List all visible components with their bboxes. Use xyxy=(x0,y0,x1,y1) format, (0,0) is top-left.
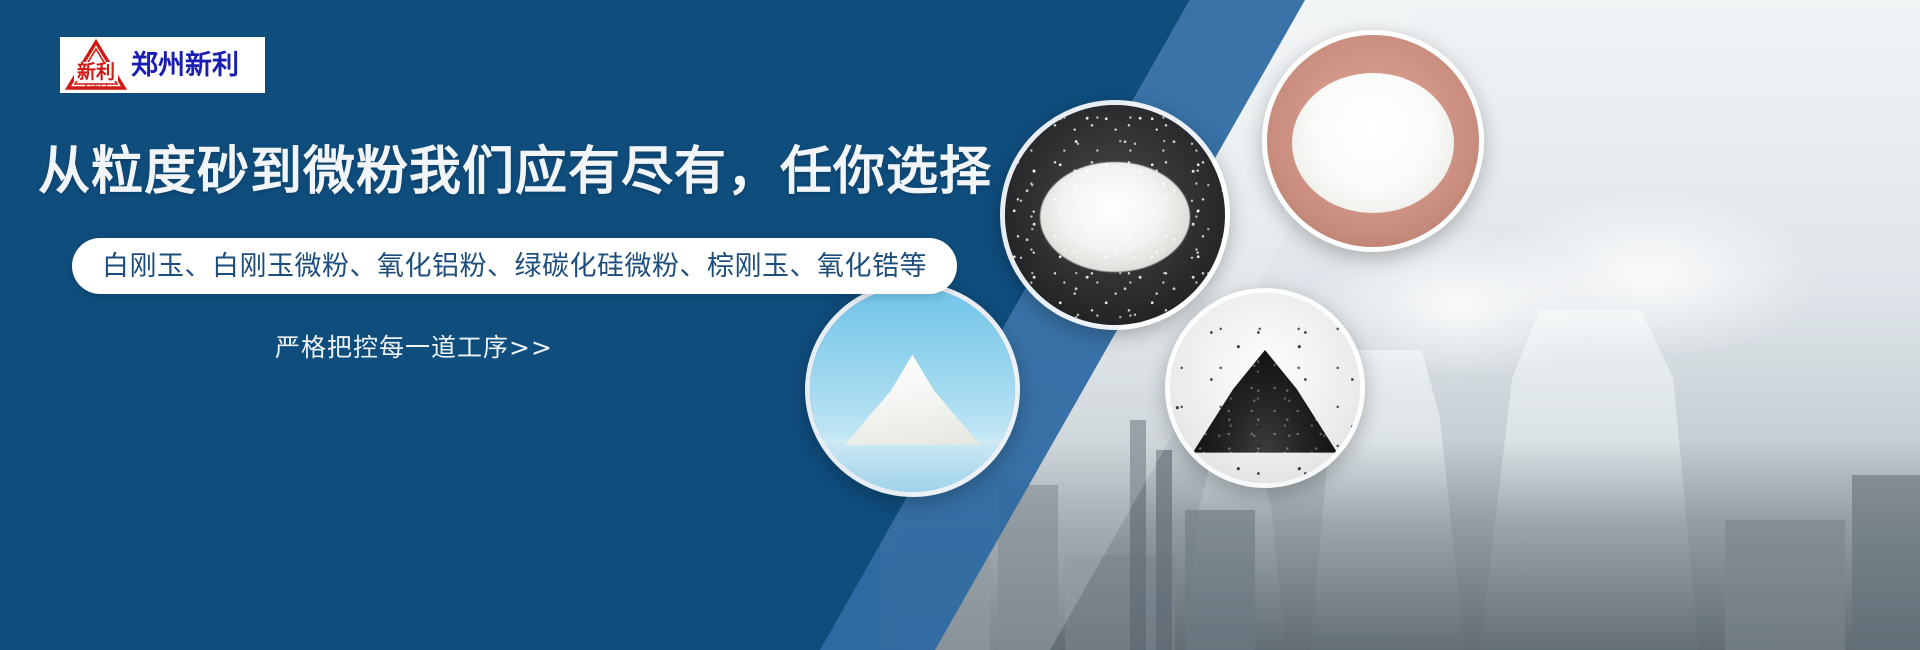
company-logo[interactable]: 新利 XINLI 郑州新利 xyxy=(60,37,265,93)
product-photo-white-powder xyxy=(1262,30,1484,252)
powder-heap xyxy=(1292,73,1453,213)
svg-text:新利: 新利 xyxy=(77,60,115,83)
subtitle-cta[interactable]: 严格把控每一道工序>> xyxy=(275,328,553,364)
svg-text:XINLI: XINLI xyxy=(83,82,108,91)
water-surface xyxy=(810,439,1015,492)
headline-text: 从粒度砂到微粉我们应有尽有，任你选择 xyxy=(38,143,992,203)
promo-banner: 新利 XINLI 郑州新利 从粒度砂到微粉我们应有尽有，任你选择 白刚玉、白刚玉… xyxy=(0,0,1920,650)
product-photo-powder-cone xyxy=(805,282,1020,497)
product-photo-black-grit xyxy=(1165,288,1365,488)
xinli-triangle-mark-icon: 新利 XINLI xyxy=(65,39,127,91)
product-list-pill[interactable]: 白刚玉、白刚玉微粉、氧化铝粉、绿碳化硅微粉、棕刚玉、氧化锆等 xyxy=(72,238,957,294)
scattered-grains xyxy=(1170,293,1360,483)
product-list-text: 白刚玉、白刚玉微粉、氧化铝粉、绿碳化硅微粉、棕刚玉、氧化锆等 xyxy=(102,253,927,280)
grit-speckles xyxy=(1005,105,1225,325)
logo-brand-name: 郑州新利 xyxy=(131,52,239,79)
